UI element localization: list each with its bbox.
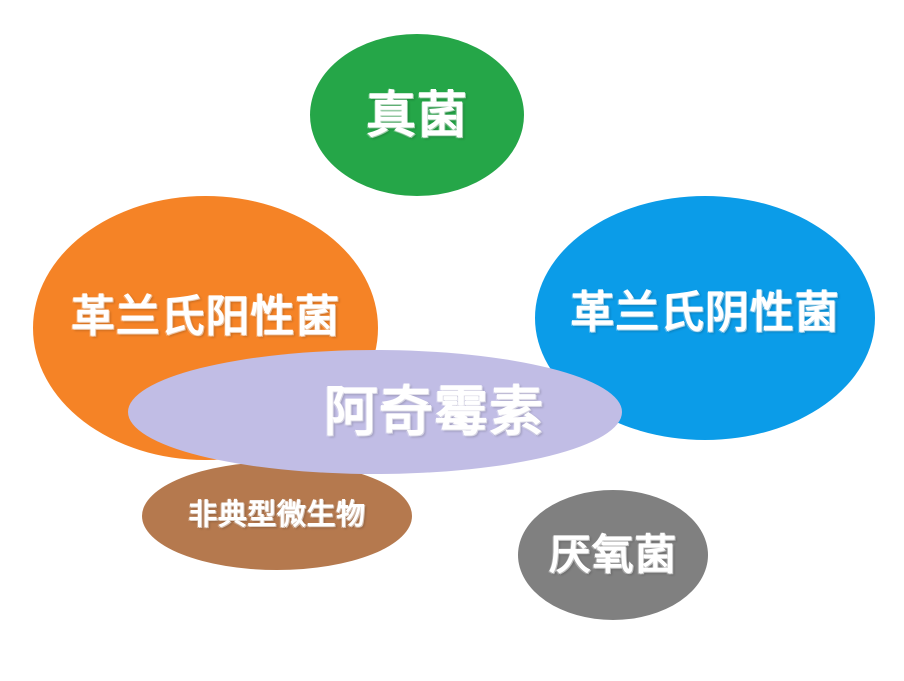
bubble-azithromycin[interactable]: 阿奇霉素 (128, 350, 622, 474)
bubble-azithromycin-label: 阿奇霉素 (206, 385, 544, 439)
diagram-canvas: 真菌 革兰氏阳性菌 革兰氏阴性菌 非典型微生物 厌氧菌 阿奇霉素 (0, 0, 904, 681)
bubble-fungi-label: 真菌 (366, 90, 468, 140)
bubble-gram-negative-label: 革兰氏阴性菌 (570, 291, 839, 335)
bubble-atypical-microorganisms-label: 非典型微生物 (188, 501, 365, 530)
bubble-gram-positive-label: 革兰氏阳性菌 (71, 295, 340, 339)
bubble-anaerobes[interactable]: 厌氧菌 (518, 490, 708, 620)
bubble-atypical-microorganisms[interactable]: 非典型微生物 (142, 462, 412, 570)
bubble-fungi[interactable]: 真菌 (310, 34, 524, 196)
bubble-anaerobes-label: 厌氧菌 (549, 534, 678, 576)
